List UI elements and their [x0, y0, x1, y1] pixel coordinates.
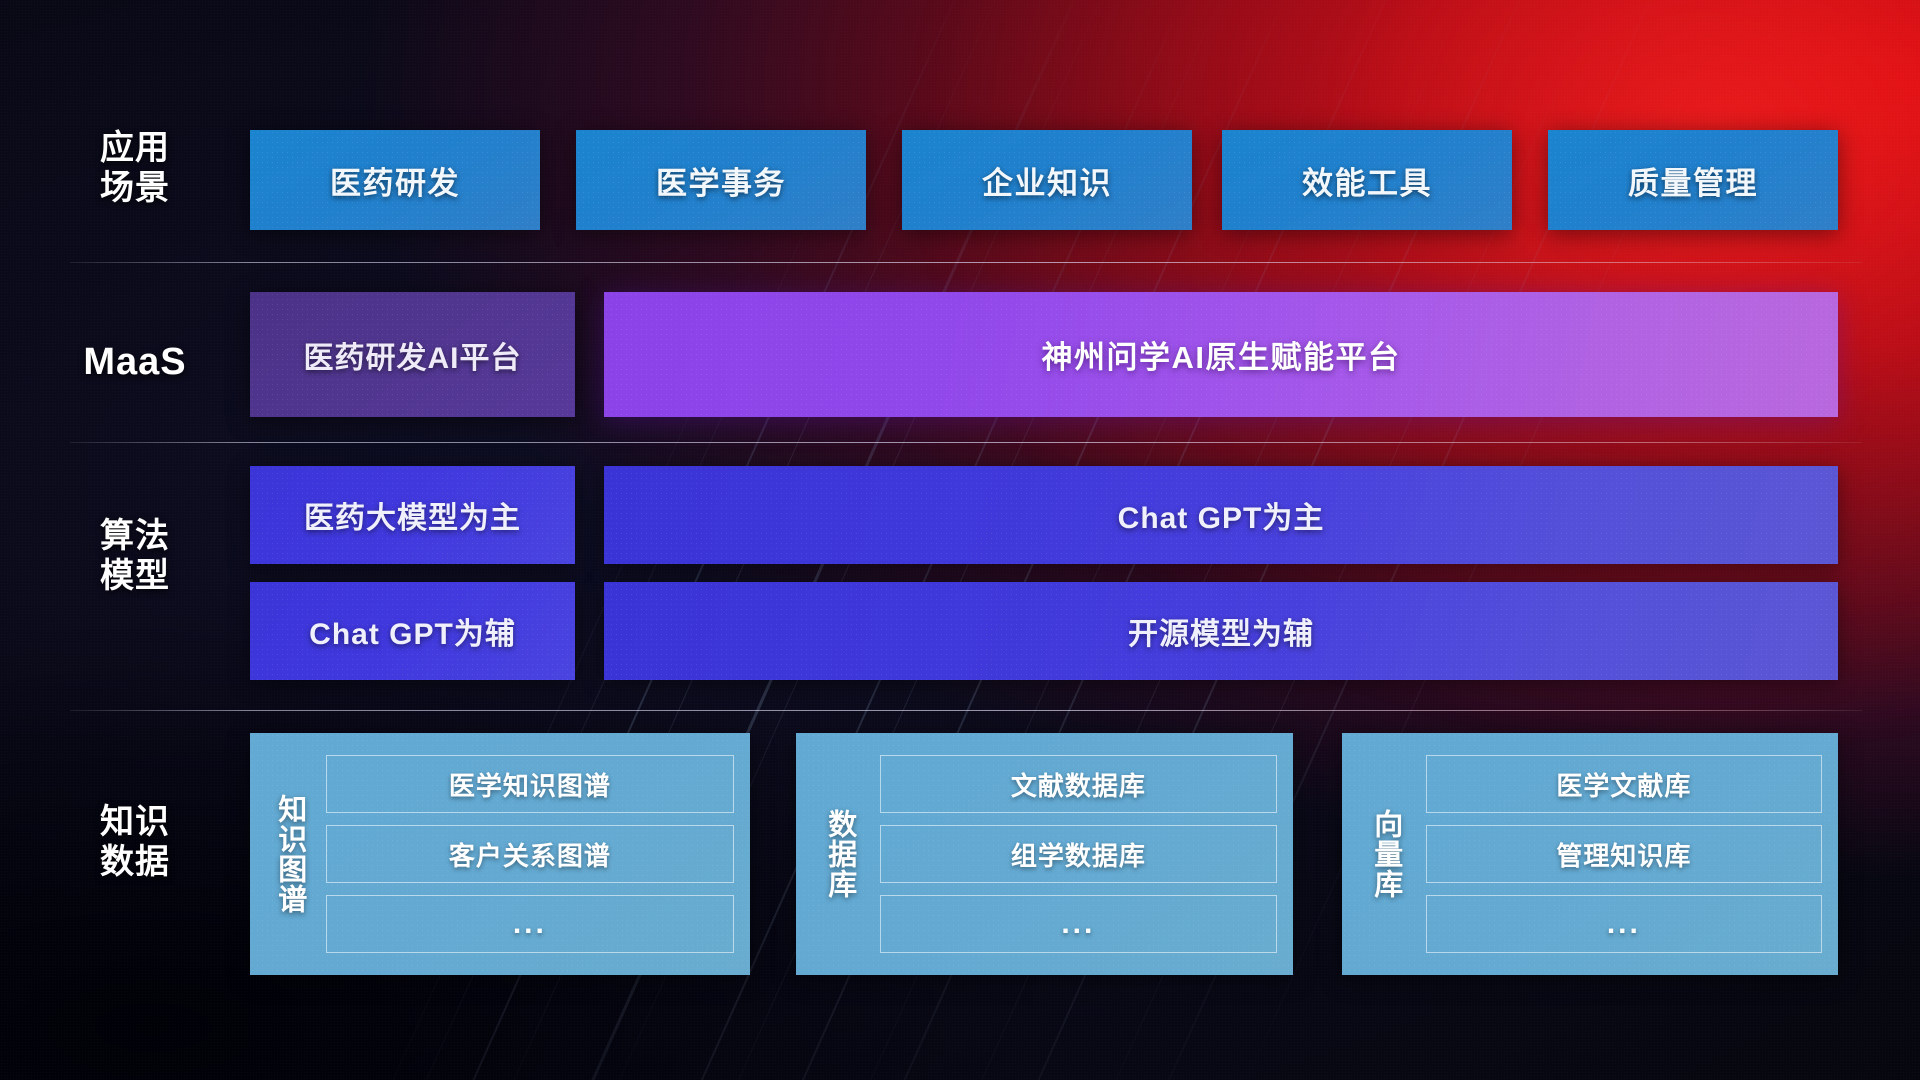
knowledge-item[interactable]: 组学数据库 — [880, 825, 1277, 883]
knowledge-group-vector-store[interactable]: 向量库 医学文献库 管理知识库 ... — [1342, 733, 1838, 975]
knowledge-group-database[interactable]: 数据库 文献数据库 组学数据库 ... — [796, 733, 1293, 975]
knowledge-item[interactable]: 管理知识库 — [1426, 825, 1822, 883]
knowledge-item[interactable]: 文献数据库 — [880, 755, 1277, 813]
knowledge-item[interactable]: 医学文献库 — [1426, 755, 1822, 813]
app-box-enterprise-knowledge[interactable]: 企业知识 — [902, 130, 1192, 230]
knowledge-item[interactable]: 客户关系图谱 — [326, 825, 734, 883]
app-box-medical-affairs[interactable]: 医学事务 — [576, 130, 866, 230]
maas-box-label: 神州问学AI原生赋能平台 — [1042, 332, 1401, 377]
row-label-knowledge-data: 知识 数据 — [70, 802, 200, 882]
divider-after-application-scenarios — [70, 262, 1862, 263]
algo-box-label: 医药大模型为主 — [304, 493, 521, 537]
algo-box-chatgpt-secondary[interactable]: Chat GPT为辅 — [250, 582, 575, 680]
maas-box-shenzhou-wenxue-platform[interactable]: 神州问学AI原生赋能平台 — [604, 292, 1838, 417]
row-label-maas: MaaS — [70, 340, 200, 385]
algo-box-label: Chat GPT为辅 — [309, 609, 516, 653]
app-box-label: 医学事务 — [656, 158, 786, 203]
algo-box-chatgpt-primary[interactable]: Chat GPT为主 — [604, 466, 1838, 564]
app-box-label: 效能工具 — [1302, 158, 1432, 203]
app-box-label: 医药研发 — [330, 158, 460, 203]
knowledge-item-list: 文献数据库 组学数据库 ... — [880, 755, 1277, 953]
row-label-algorithm-model: 算法 模型 — [70, 516, 200, 596]
divider-after-algorithm-model — [70, 710, 1862, 711]
knowledge-group-title: 知识图谱 — [270, 755, 308, 953]
algo-box-label: Chat GPT为主 — [1118, 493, 1325, 537]
maas-box-pharma-ai-platform[interactable]: 医药研发AI平台 — [250, 292, 575, 417]
algo-box-pharma-llm-primary[interactable]: 医药大模型为主 — [250, 466, 575, 564]
app-box-label: 企业知识 — [982, 158, 1112, 203]
knowledge-group-title: 数据库 — [820, 755, 858, 953]
app-box-label: 质量管理 — [1628, 158, 1758, 203]
knowledge-item-more[interactable]: ... — [326, 895, 734, 953]
algo-box-opensource-secondary[interactable]: 开源模型为辅 — [604, 582, 1838, 680]
knowledge-group-title: 向量库 — [1366, 755, 1404, 953]
knowledge-item[interactable]: 医学知识图谱 — [326, 755, 734, 813]
row-label-application-scenarios: 应用 场景 — [70, 128, 200, 208]
architecture-diagram: 应用 场景 医药研发 医学事务 企业知识 效能工具 质量管理 MaaS 医药研发… — [0, 0, 1920, 1080]
divider-after-maas — [70, 442, 1862, 443]
app-box-quality-management[interactable]: 质量管理 — [1548, 130, 1838, 230]
app-box-pharma-rd[interactable]: 医药研发 — [250, 130, 540, 230]
knowledge-item-more[interactable]: ... — [1426, 895, 1822, 953]
knowledge-item-more[interactable]: ... — [880, 895, 1277, 953]
app-box-efficiency-tools[interactable]: 效能工具 — [1222, 130, 1512, 230]
knowledge-item-list: 医学知识图谱 客户关系图谱 ... — [326, 755, 734, 953]
knowledge-group-knowledge-graph[interactable]: 知识图谱 医学知识图谱 客户关系图谱 ... — [250, 733, 750, 975]
maas-box-label: 医药研发AI平台 — [304, 333, 522, 377]
algo-box-label: 开源模型为辅 — [1128, 609, 1314, 653]
knowledge-item-list: 医学文献库 管理知识库 ... — [1426, 755, 1822, 953]
